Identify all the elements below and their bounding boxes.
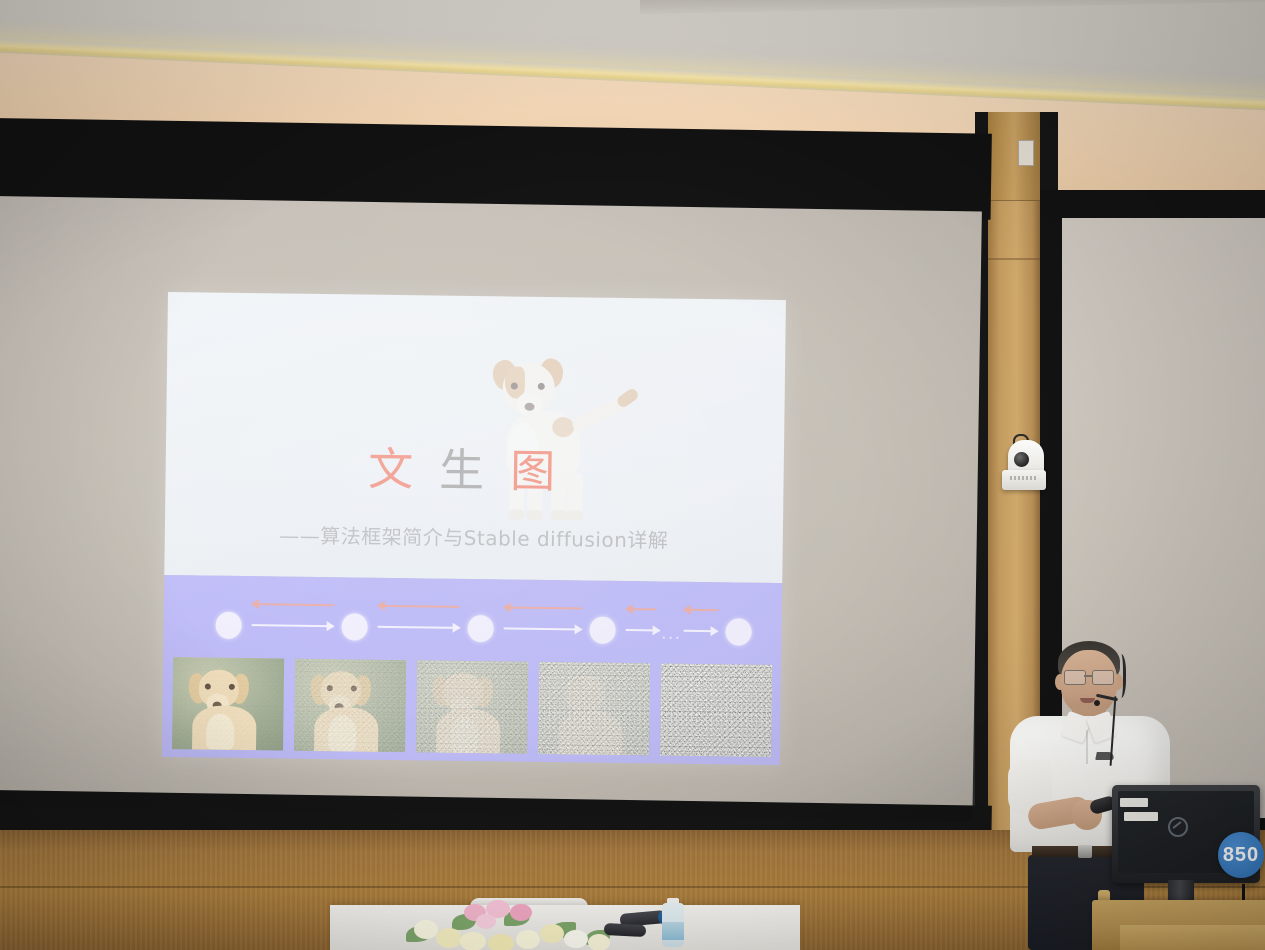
belt-buckle [1078,845,1092,858]
diffusion-frame [538,662,650,755]
wood-column-seam [988,258,1040,260]
eyeglasses-lens-right [1092,670,1114,685]
bouquet-flower-white [516,930,540,949]
bouquet-flower-cream [540,924,564,943]
ptz-camera-base [1002,470,1046,490]
dog-nose [524,403,534,411]
slide-upper-half: 文生图 ——算法框架简介与Stable diffusion详解 [164,292,786,583]
reverse-denoising-arrow [252,603,334,606]
frame-noise-overlay [538,662,650,755]
bouquet-flower-cream [588,934,610,950]
frame-noise-overlay [294,659,406,752]
lecture-hall-photo: 文生图 ——算法框架简介与Stable diffusion详解 [0,0,1265,950]
eyeglasses-bridge [1084,675,1092,677]
monitor-sticker [1120,798,1148,807]
polo-placket [1086,730,1088,764]
dog-body-spot [552,417,574,437]
noise-progression-strip [172,657,771,757]
forward-diffusion-arrow [684,630,718,632]
eyeglasses-lens-left [1064,670,1086,685]
camera-lens-icon [1014,452,1029,467]
reverse-denoising-arrow [504,606,582,609]
latent-node [215,612,241,639]
monitor-sticker [1124,812,1158,821]
forward-diffusion-arrow [378,626,460,629]
slide-lower-half-diffusion-diagram: ... [162,575,782,765]
seat-number-badge: 850 [1218,832,1264,878]
dog-paw [550,510,567,520]
reverse-denoising-arrow [626,608,656,610]
diffusion-frame [294,659,406,752]
bouquet-flower-pink [510,904,532,921]
dog-eye-left [511,382,518,389]
dog-paw [526,510,543,520]
wireless-microphone[interactable] [604,923,647,937]
dell-logo-icon [1168,817,1188,837]
bouquet-flower-white [564,930,588,948]
slide-subtitle: ——算法框架简介与Stable diffusion详解 [165,518,783,555]
forward-diffusion-arrow [626,629,660,631]
reverse-denoising-arrow [378,605,460,608]
latent-node [589,617,615,644]
bouquet-flower-cream [460,932,486,950]
latent-node [341,613,367,640]
headset-mic-band [1114,654,1126,698]
ptz-camera-label [1010,476,1036,480]
reverse-denoising-arrow [684,609,718,611]
latent-node [467,615,493,642]
diffusion-chain: ... [163,597,782,657]
bouquet-flower-cream [436,928,462,948]
water-bottle-label [662,922,684,940]
chain-ellipsis: ... [661,624,681,641]
dog-paw [566,510,583,520]
dog-tail-tip [615,387,640,409]
flower-bouquet [400,900,620,950]
podium-lower-shelf [1120,925,1265,950]
forward-diffusion-arrow [252,624,334,627]
frame-noise-overlay [172,657,284,750]
diffusion-frame [416,660,528,753]
bouquet-flower-white [414,920,438,939]
frame-noise-overlay [660,663,772,756]
slide-title-char-3: 图 [510,444,582,498]
presentation-slide: 文生图 ——算法框架简介与Stable diffusion详解 [162,292,786,765]
dog-paw [508,509,525,519]
diffusion-frame [172,657,284,750]
wall-plate [1018,140,1034,166]
diffusion-frame [660,663,772,756]
dog-eye-right [538,383,545,390]
latent-node [725,618,751,645]
bouquet-flower-cream [488,934,514,950]
frame-noise-overlay [416,660,528,753]
slide-title-char-1: 文 [368,443,440,497]
slide-title: 文生图 [165,444,784,497]
slide-title-char-2: 生 [439,444,511,498]
forward-diffusion-arrow [504,627,582,630]
bouquet-flower-pink [476,914,496,929]
